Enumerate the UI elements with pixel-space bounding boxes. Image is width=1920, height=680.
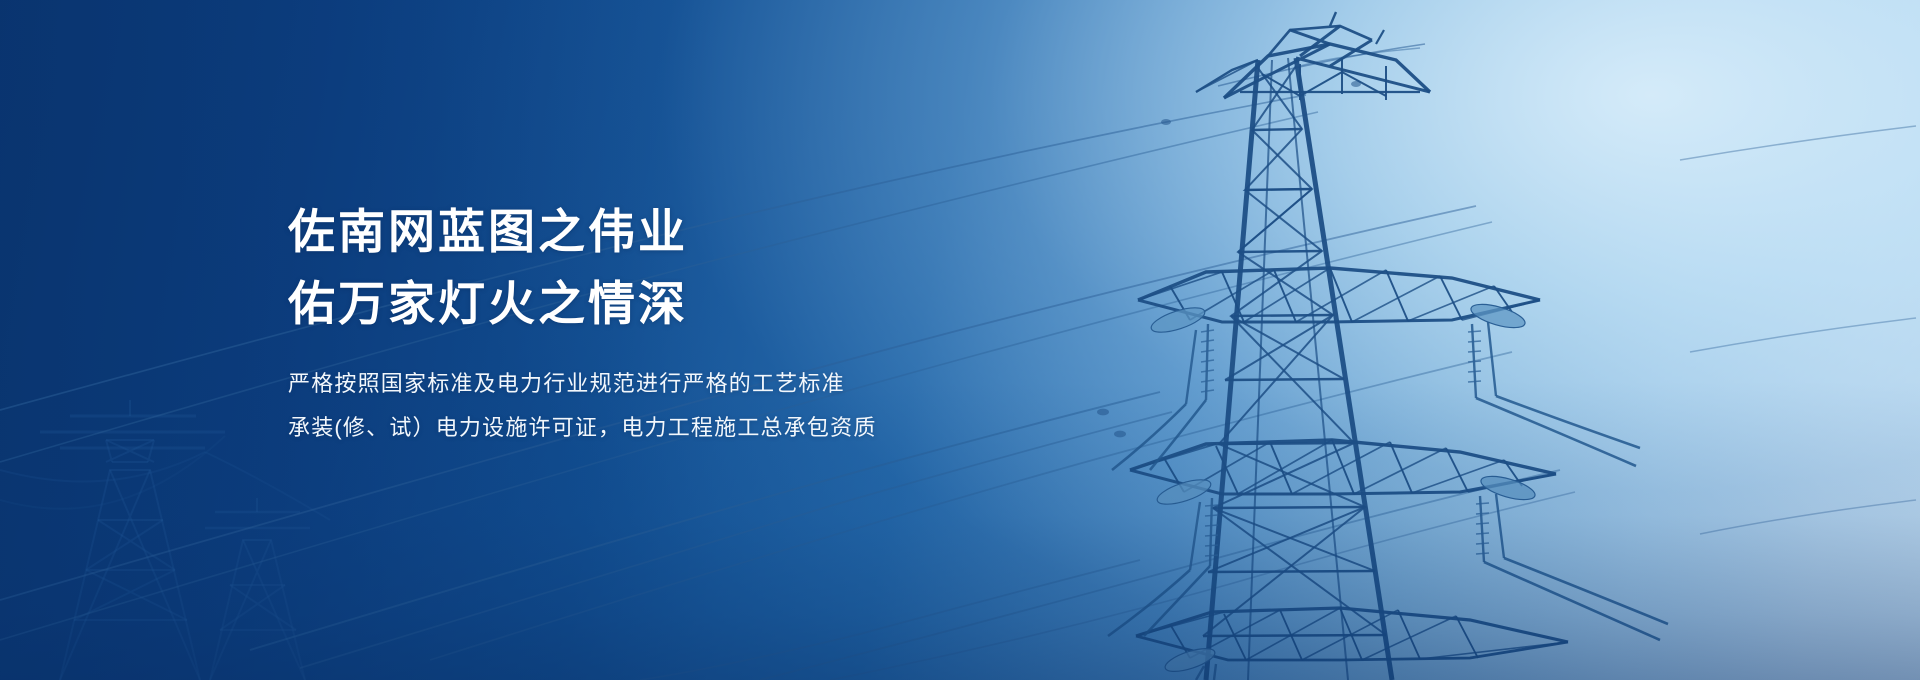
headline-line-1: 佐南网蓝图之伟业 xyxy=(288,196,1188,268)
hero-banner: 佐南网蓝图之伟业 佑万家灯火之情深 严格按照国家标准及电力行业规范进行严格的工艺… xyxy=(0,0,1920,680)
hero-copy: 佐南网蓝图之伟业 佑万家灯火之情深 严格按照国家标准及电力行业规范进行严格的工艺… xyxy=(288,196,1188,450)
subtitle-line-1: 严格按照国家标准及电力行业规范进行严格的工艺标准 xyxy=(288,362,1188,406)
headline-line-2: 佑万家灯火之情深 xyxy=(288,268,1188,340)
hero-subtitle: 严格按照国家标准及电力行业规范进行严格的工艺标准 承装(修、试）电力设施许可证，… xyxy=(288,362,1188,450)
subtitle-line-2: 承装(修、试）电力设施许可证，电力工程施工总承包资质 xyxy=(288,406,1188,450)
